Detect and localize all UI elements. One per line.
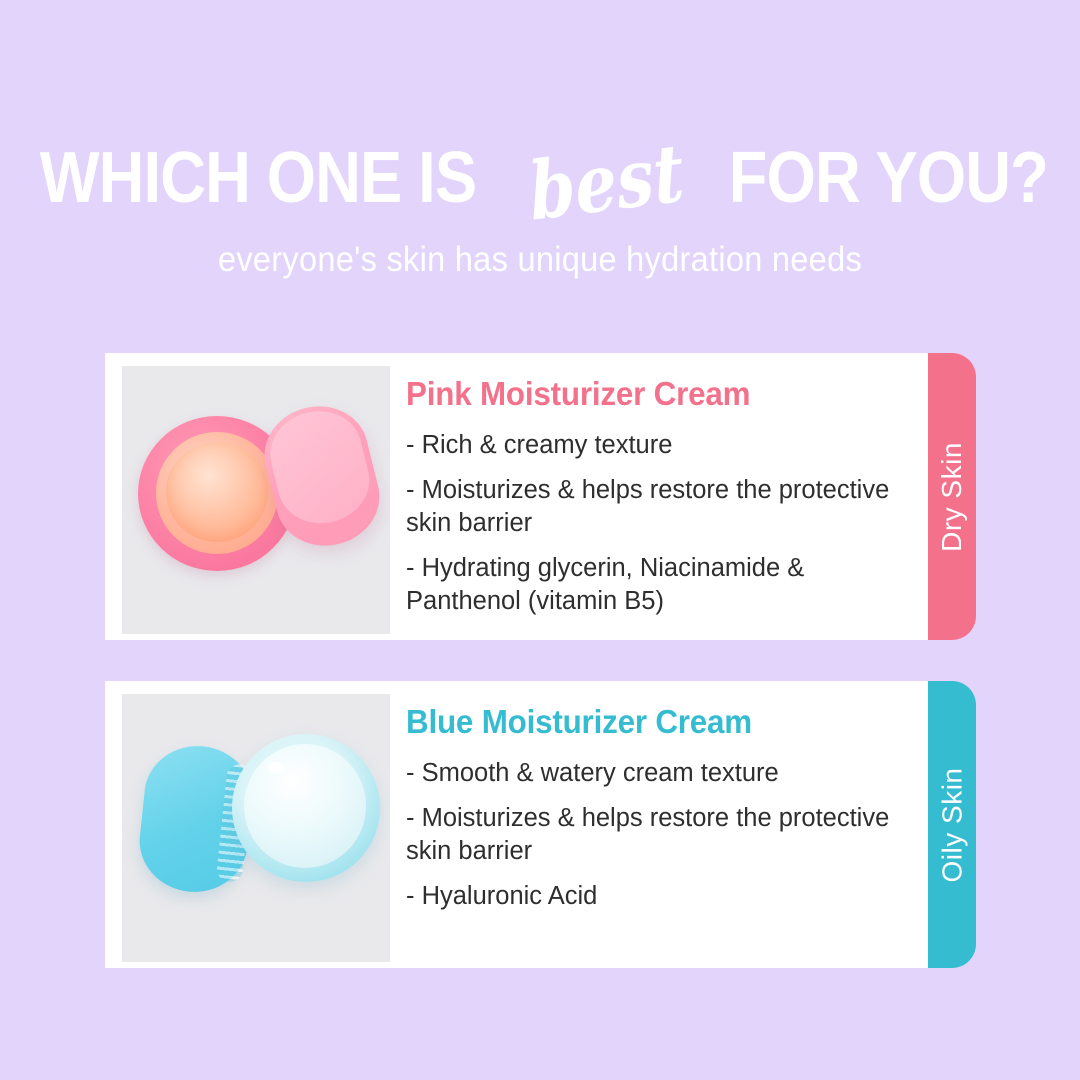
- pink-card-content: Pink Moisturizer Cream - Rich & creamy t…: [390, 353, 930, 630]
- pink-jar-lid-top: [262, 402, 378, 533]
- page-subtitle: everyone's skin has unique hydration nee…: [38, 240, 1042, 280]
- product-title-blue: Blue Moisturizer Cream: [406, 703, 879, 741]
- headline-script-word: best: [521, 132, 692, 233]
- pink-cream-surface: [166, 442, 268, 542]
- skin-type-tab-label: Oily Skin: [936, 767, 968, 882]
- skin-type-tab-dry[interactable]: Dry Skin: [928, 353, 976, 640]
- feature-item: - Smooth & watery cream texture: [406, 757, 904, 789]
- blue-gel-highlight: [268, 762, 284, 773]
- header: WHICH ONE IS best FOR YOU? everyone's sk…: [0, 0, 1080, 280]
- feature-item: - Rich & creamy texture: [406, 429, 904, 461]
- blue-moisturizer-jar-photo: [122, 694, 390, 962]
- blue-card-content: Blue Moisturizer Cream - Smooth & watery…: [390, 681, 930, 926]
- blue-gel-surface: [244, 744, 366, 868]
- headline-text-before: WHICH ONE IS: [40, 142, 476, 214]
- skin-type-tab-label: Dry Skin: [936, 442, 968, 552]
- skin-type-tab-oily[interactable]: Oily Skin: [928, 681, 976, 968]
- pink-moisturizer-jar-photo: [122, 366, 390, 634]
- headline-text-after: FOR YOU?: [729, 142, 1048, 214]
- product-title-pink: Pink Moisturizer Cream: [406, 375, 879, 413]
- feature-item: - Moisturizes & helps restore the protec…: [406, 802, 904, 867]
- page-title: WHICH ONE IS best FOR YOU?: [0, 138, 1080, 218]
- product-card-blue[interactable]: Blue Moisturizer Cream - Smooth & watery…: [105, 681, 930, 968]
- product-card-pink[interactable]: Pink Moisturizer Cream - Rich & creamy t…: [105, 353, 930, 640]
- feature-item: - Moisturizes & helps restore the protec…: [406, 474, 904, 539]
- feature-item: - Hydrating glycerin, Niacinamide & Pant…: [406, 552, 904, 617]
- feature-item: - Hyaluronic Acid: [406, 880, 904, 912]
